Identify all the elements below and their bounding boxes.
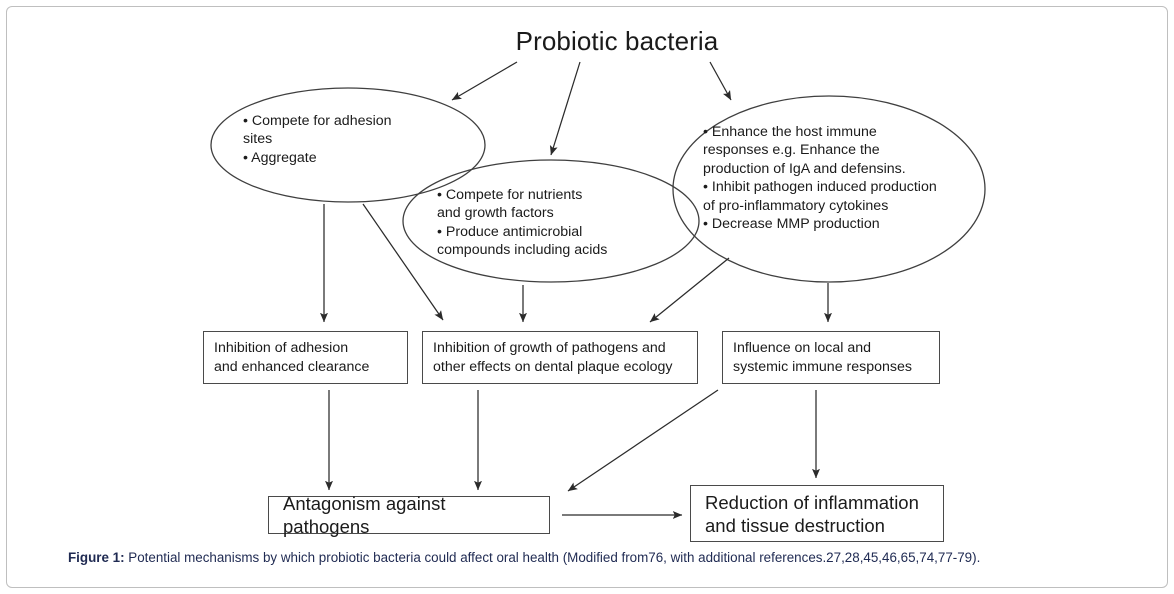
figure-caption-label: Figure 1: — [68, 550, 125, 565]
box-reduction-of-inflammation: Reduction of inflammation and tissue des… — [690, 485, 944, 542]
figure-container: Probiotic bacteria • Compete for adhesio… — [0, 0, 1174, 594]
figure-caption-text: Potential mechanisms by which probiotic … — [125, 550, 981, 565]
box-label: Reduction of inflammation and tissue des… — [705, 491, 929, 537]
arrow-immune-ellipse-to-growth — [650, 258, 729, 322]
figure-caption: Figure 1: Potential mechanisms by which … — [68, 549, 1114, 567]
box-antagonism-against-pathogens: Antagonism against pathogens — [268, 496, 550, 534]
box-inhibition-of-adhesion: Inhibition of adhesion and enhanced clea… — [203, 331, 408, 384]
box-label: Antagonism against pathogens — [283, 492, 535, 538]
box-label: Inhibition of adhesion and enhanced clea… — [214, 339, 397, 376]
box-inhibition-of-growth: Inhibition of growth of pathogens and ot… — [422, 331, 698, 384]
arrow-title-to-nutrients-ellipse — [551, 62, 580, 155]
arrow-title-to-immune-ellipse — [710, 62, 731, 100]
ellipse-label-compete-adhesion: • Compete for adhesion sites • Aggregate — [243, 112, 453, 167]
diagram-title: Probiotic bacteria — [467, 26, 767, 56]
diagram-vector-layer — [0, 0, 1174, 594]
arrow-influence-box-to-antagonism — [568, 390, 718, 491]
ellipse-label-compete-nutrients: • Compete for nutrients and growth facto… — [437, 186, 665, 260]
box-label: Inhibition of growth of pathogens and ot… — [433, 339, 687, 376]
ellipse-label-enhance-immune: • Enhance the host immune responses e.g.… — [703, 123, 955, 233]
box-label: Influence on local and systemic immune r… — [733, 339, 929, 376]
arrow-title-to-adhesion-ellipse — [452, 62, 517, 100]
box-influence-on-immune-responses: Influence on local and systemic immune r… — [722, 331, 940, 384]
